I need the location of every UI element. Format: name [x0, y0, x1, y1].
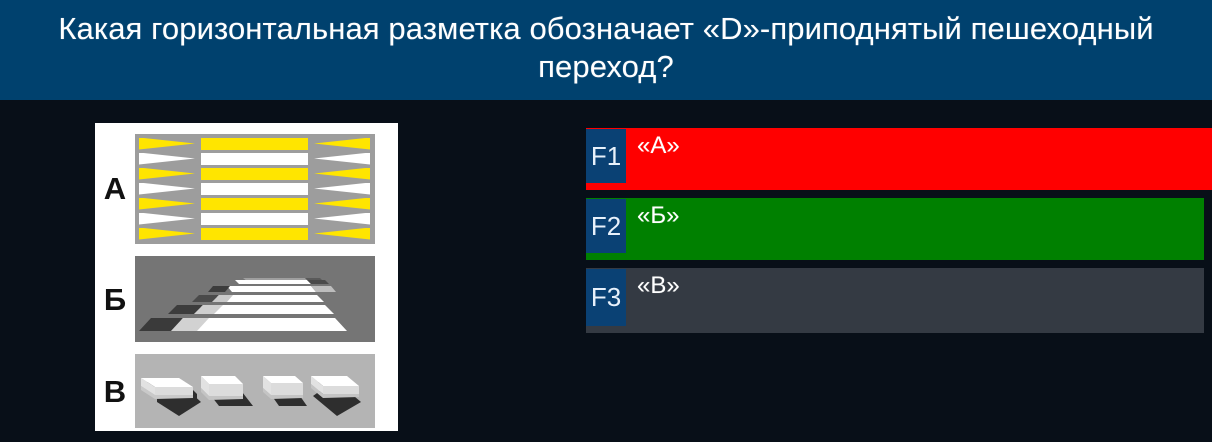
pennant-icon — [139, 153, 195, 165]
answer-label: «Б» — [626, 198, 679, 260]
pennant-icon — [139, 138, 195, 150]
perspective-raised-crossing-figure — [135, 256, 375, 342]
diagram-label-c: В — [95, 376, 135, 407]
answer-option-f1[interactable]: F1 «А» — [586, 128, 1212, 190]
illustration-panel: А — [95, 123, 398, 431]
answer-label: «А» — [626, 128, 680, 190]
answer-option-f2[interactable]: F2 «Б» — [586, 198, 1204, 260]
stripe-bar — [201, 198, 308, 210]
pennant-icon — [314, 138, 370, 150]
pennants-right-group — [314, 138, 370, 240]
pennant-icon — [314, 228, 370, 240]
pennant-icon — [314, 153, 370, 165]
stripes-center-group — [201, 138, 308, 240]
stripe-bar — [201, 138, 308, 150]
diagram-label-b: Б — [95, 284, 135, 315]
pennant-icon — [314, 183, 370, 195]
pennant-icon — [139, 213, 195, 225]
diagram-label-a: А — [95, 173, 135, 204]
pennant-icon — [139, 168, 195, 180]
pennant-icon — [314, 198, 370, 210]
diagram-variant-a: А — [95, 131, 398, 246]
answer-label: «В» — [626, 268, 680, 333]
stripe-bar — [201, 153, 308, 165]
three-dimensional-raised-blocks-figure — [135, 354, 375, 428]
answer-option-f3[interactable]: F3 «В» — [586, 268, 1204, 333]
stripe-bar — [201, 213, 308, 225]
pennant-icon — [139, 183, 195, 195]
question-text: Какая горизонтальная разметка обозначает… — [18, 10, 1194, 86]
stripe-bar — [201, 168, 308, 180]
stripe-bar — [201, 228, 308, 240]
pennant-icon — [139, 198, 195, 210]
pennant-icon — [314, 168, 370, 180]
shortcut-key-badge[interactable]: F1 — [586, 129, 626, 183]
striped-yellow-white-crossing-figure — [135, 134, 375, 244]
question-header: Какая горизонтальная разметка обозначает… — [0, 0, 1212, 100]
quiz-screen: Какая горизонтальная разметка обозначает… — [0, 0, 1212, 442]
shortcut-key-badge[interactable]: F3 — [586, 269, 626, 326]
diagram-variant-b: Б — [95, 253, 398, 345]
answer-list: F1 «А» F2 «Б» F3 «В» — [586, 128, 1212, 341]
pennant-icon — [139, 228, 195, 240]
stripe-bar — [201, 183, 308, 195]
shortcut-key-badge[interactable]: F2 — [586, 199, 626, 253]
diagram-variant-c: В — [95, 351, 398, 431]
pennant-icon — [314, 213, 370, 225]
pennants-left-group — [139, 138, 195, 240]
